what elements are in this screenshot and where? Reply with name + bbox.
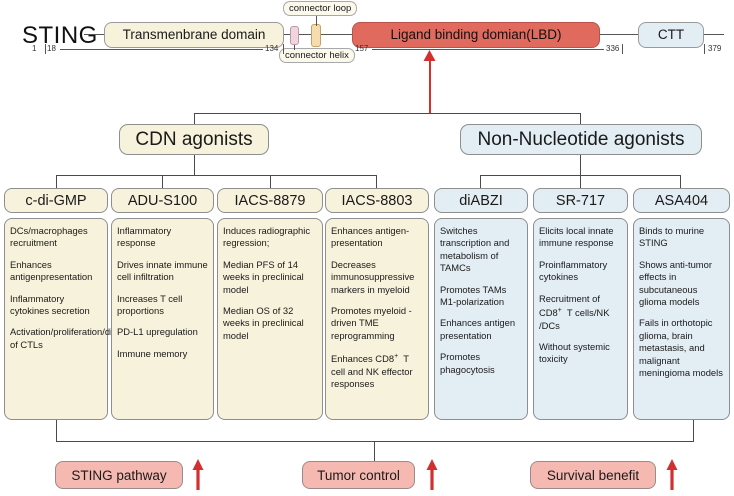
cdn-drop-3: [270, 175, 271, 188]
detail-item: Switches transcription and metabolism of…: [440, 225, 522, 275]
detail-item: Enhances antigen presentation: [440, 317, 522, 342]
tm-tick-left: [45, 44, 46, 54]
tree-root-bar: [194, 113, 581, 114]
detail-item: Without systemic toxicity: [539, 341, 622, 366]
tm-start-label: 18: [47, 44, 56, 53]
outcome-sting-pathway[interactable]: STING pathway: [55, 461, 183, 489]
detail-item: Promotes TAMs M1-polarization: [440, 284, 522, 309]
lbd-start-label: 157: [355, 44, 368, 53]
category-cdn-agonists[interactable]: CDN agonists: [119, 124, 269, 155]
detail-box-diabzi: Switches transcription and metabolism of…: [434, 218, 528, 420]
connector-helix-leader: [294, 45, 295, 50]
detail-box-iacs-8879: Induces radiographic regression; Median …: [217, 218, 323, 420]
detail-item: Median PFS of 14 weeks in preclinical mo…: [223, 259, 317, 296]
category-non-nucleotide-agonists[interactable]: Non-Nucleotide agonists: [460, 124, 702, 155]
connector-loop-label: connector loop: [283, 1, 357, 16]
detail-item: Median OS of 32 weeks in preclinical mod…: [223, 305, 317, 342]
detail-item: Inflammatory cytokines secretion: [10, 293, 102, 318]
detail-box-iacs-8803: Enhances antigen-presentation Decreases …: [325, 218, 429, 420]
tm-tick-right: [283, 44, 284, 54]
nn-drop-2: [580, 175, 581, 188]
detail-box-c-di-gmp: DCs/macrophages recruitment Enhances ant…: [4, 218, 108, 420]
outcome-survival-benefit[interactable]: Survival benefit: [530, 461, 656, 489]
backbone-line-right: [702, 34, 724, 35]
detail-item: Promotes phagocytosis: [440, 351, 522, 376]
detail-item: Enhances CD8+ T cell and NK effector res…: [331, 351, 423, 390]
cdn-branch-bar: [56, 175, 376, 176]
outcome-stem-right: [693, 420, 694, 441]
connector-loop-segment: [311, 24, 321, 47]
drug-pill-diabzi[interactable]: diABZI: [434, 188, 528, 213]
backbone-line-left: [84, 34, 106, 35]
drug-pill-asa404[interactable]: ASA404: [633, 188, 730, 213]
detail-item: Proinflammatory cytokines: [539, 259, 622, 284]
detail-item: Enhances antigen-presentation: [331, 225, 423, 250]
detail-item: Increases T cell proportions: [117, 293, 208, 318]
detail-box-adu-s100: Inflammatory response Drives innate immu…: [111, 218, 214, 420]
drug-pill-iacs-8879[interactable]: IACS-8879: [217, 188, 323, 213]
domain-ctt: CTT: [638, 22, 704, 48]
lbd-span-line: [372, 49, 604, 50]
connector-helix-segment: [290, 26, 299, 45]
outcome-tumor-control[interactable]: Tumor control: [302, 461, 415, 489]
nn-drop-1: [480, 175, 481, 188]
connector-loop-leader: [316, 16, 317, 26]
detail-item: Drives innate immune cell infiltration: [117, 259, 208, 284]
up-arrow-icon: [192, 459, 204, 491]
drug-pill-c-di-gmp[interactable]: c-di-GMP: [4, 188, 108, 213]
drug-pill-adu-s100[interactable]: ADU-S100: [111, 188, 214, 213]
detail-item: Recruitment of CD8+ T cells/NK /DCs: [539, 293, 622, 332]
detail-item: Decreases immunosuppressive markers in m…: [331, 259, 423, 296]
detail-item: Activation/proliferation/differentiation…: [10, 326, 102, 351]
cdn-drop-2: [162, 175, 163, 188]
up-arrow-icon: [666, 459, 678, 491]
backbone-line-mid2: [598, 34, 640, 35]
outcome-stem-center: [374, 441, 375, 462]
detail-item: Promotes myeloid -driven TME reprogrammi…: [331, 305, 423, 342]
detail-item: Immune memory: [117, 348, 208, 360]
residue-start-label: 1: [32, 44, 36, 53]
detail-item: PD-L1 upregulation: [117, 326, 208, 338]
cdn-drop-1: [56, 175, 57, 188]
detail-box-sr-717: Elicits local innate immune response Pro…: [533, 218, 628, 420]
lbd-end-label: 336: [606, 44, 619, 53]
detail-item: Elicits local innate immune response: [539, 225, 622, 250]
nn-stem: [580, 155, 581, 175]
cdn-stem: [194, 155, 195, 175]
detail-item: Fails in orthotopic glioma, brain metast…: [639, 317, 724, 379]
detail-item: Induces radiographic regression;: [223, 225, 317, 250]
detail-item: DCs/macrophages recruitment: [10, 225, 102, 250]
drug-pill-sr-717[interactable]: SR-717: [533, 188, 628, 213]
domain-transmembrane: Transmenbrane domain: [104, 22, 284, 48]
outcome-stem-left: [56, 420, 57, 441]
tm-end-label: 134: [265, 44, 278, 53]
detail-item: Enhances antigenpresentation: [10, 259, 102, 284]
lbd-red-arrow-shaft: [429, 55, 431, 113]
detail-item: Shows anti-tumor effects in subcutaneous…: [639, 259, 724, 309]
residue-end-label: 379: [708, 44, 721, 53]
tm-span-line: [60, 49, 263, 50]
detail-item: Binds to murine STING: [639, 225, 724, 250]
lbd-red-arrow-head-icon: [423, 50, 436, 61]
up-arrow-icon: [426, 459, 438, 491]
lbd-tick-right: [622, 44, 623, 54]
detail-item: Inflammatory response: [117, 225, 208, 250]
cdn-drop-4: [376, 175, 377, 188]
nn-drop-3: [680, 175, 681, 188]
connector-helix-label: connector helix: [279, 48, 355, 63]
ctt-tick-right: [704, 44, 705, 54]
drug-pill-iacs-8803[interactable]: IACS-8803: [325, 188, 429, 213]
detail-box-asa404: Binds to murine STING Shows anti-tumor e…: [633, 218, 730, 420]
domain-ligand-binding: Ligand binding domian(LBD): [352, 22, 600, 48]
